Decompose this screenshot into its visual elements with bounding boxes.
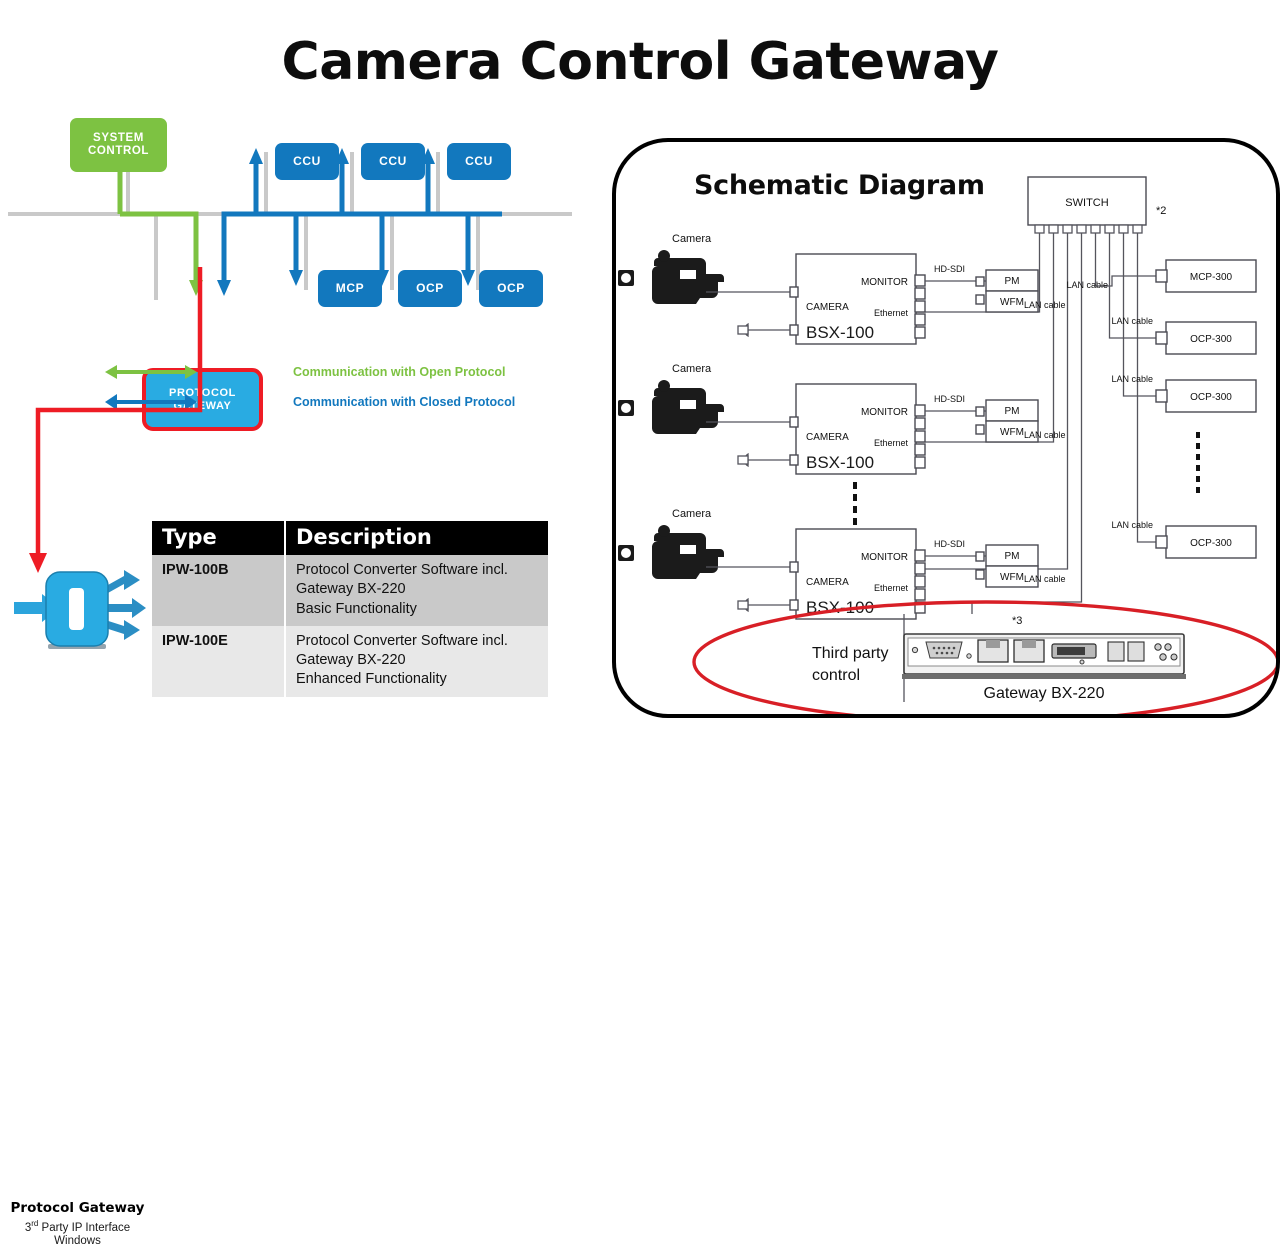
legend-row-closed: Communication with Closed Protocol: [105, 389, 515, 415]
ocp-300-3-lan-label: LAN cable: [1111, 520, 1153, 530]
ccu-2-label: CCU: [379, 155, 407, 169]
table-header-type: Type: [152, 521, 285, 555]
legend-label-closed: Communication with Closed Protocol: [293, 395, 515, 409]
schematic-panel: Schematic Diagram SWITCH *2: [612, 138, 1280, 718]
gateway-note: *3: [1012, 615, 1022, 627]
legend-arrow-open-icon: [105, 362, 197, 382]
protocol-gateway-icon[interactable]: [4, 558, 154, 658]
table-header-row: Type Description: [152, 521, 548, 555]
sdi-3-label: HD-SDI: [934, 539, 965, 549]
row-1-desc-line2: Gateway BX-220: [296, 651, 538, 670]
ocp-300-2-lan-label: LAN cable: [1111, 374, 1153, 384]
node-ccu-3[interactable]: CCU: [447, 143, 511, 180]
legend-row-open: Communication with Open Protocol: [105, 359, 506, 385]
protocol-gateway-icon-os: Windows: [0, 1235, 155, 1247]
bsx-1-port-ethernet: Ethernet: [874, 308, 909, 318]
ccu-1-label: CCU: [293, 155, 321, 169]
bsx-1-port-camera: CAMERA: [806, 302, 849, 313]
ocp-300-1-lan-label: LAN cable: [1111, 316, 1153, 326]
bsx-3-port-ethernet: Ethernet: [874, 583, 909, 593]
mcp-1-label: MCP: [336, 282, 364, 296]
gateway-bx220-group: Third party control *3: [812, 614, 1186, 702]
switch-note: *2: [1156, 205, 1166, 217]
row-0-desc-line3: Basic Functionality: [296, 600, 538, 619]
mcp-300-lan-label: LAN cable: [1066, 280, 1108, 290]
protocol-gateway-icon-block: Protocol Gateway 3rd Party IP Interface …: [0, 550, 155, 720]
control-panel-ocp-300-3: OCP-300 LAN cable: [1111, 520, 1256, 558]
node-ocp-1[interactable]: OCP: [398, 270, 462, 307]
legend: Communication with Open Protocol Communi…: [105, 355, 535, 415]
lan-3-label: LAN cable: [1024, 574, 1066, 584]
bsx-3-port-camera: CAMERA: [806, 577, 849, 588]
switch-label: SWITCH: [1065, 197, 1108, 209]
product-table: Type Description IPW-100B Protocol Conve…: [152, 521, 548, 697]
table-row[interactable]: IPW-100B Protocol Converter Software inc…: [152, 555, 548, 626]
row-1-description: Protocol Converter Software incl. Gatewa…: [285, 626, 548, 697]
ocp-1-label: OCP: [416, 282, 444, 296]
row-1-desc-line1: Protocol Converter Software incl.: [296, 632, 538, 651]
system-control-line2: CONTROL: [88, 145, 149, 158]
node-ccu-2[interactable]: CCU: [361, 143, 425, 180]
system-control-line1: SYSTEM: [93, 132, 144, 145]
ocp-2-label: OCP: [497, 282, 525, 296]
page-title: Camera Control Gateway: [0, 32, 1280, 92]
row-0-desc-line2: Gateway BX-220: [296, 580, 538, 599]
sdi-1-label: HD-SDI: [934, 264, 965, 274]
table-header-description: Description: [285, 521, 548, 555]
camera-row-2: Camera BSX-100 CAMERA MONITOR Ethernet: [618, 363, 1066, 474]
switch-block: SWITCH *2: [1028, 177, 1166, 233]
bsx-2-unit: BSX-100: [806, 453, 874, 472]
bsx-2-port-monitor: MONITOR: [861, 407, 908, 418]
wfm-3-label: WFM: [1000, 572, 1024, 583]
pm-3-label: PM: [1005, 551, 1020, 562]
legend-label-open: Communication with Open Protocol: [293, 365, 506, 379]
schematic-drawing: SWITCH *2: [616, 142, 1276, 714]
sub-sup: rd: [31, 1219, 38, 1228]
camera-3-label: Camera: [672, 508, 712, 520]
camera-2-label: Camera: [672, 363, 712, 375]
pm-2-label: PM: [1005, 406, 1020, 417]
node-ocp-2[interactable]: OCP: [479, 270, 543, 307]
gateway-bx220-label: Gateway BX-220: [984, 685, 1105, 702]
bsx-1-unit: BSX-100: [806, 323, 874, 342]
node-mcp-1[interactable]: MCP: [318, 270, 382, 307]
gateway-device-image: [902, 634, 1186, 679]
bsx-1-port-monitor: MONITOR: [861, 277, 908, 288]
bsx-2-port-ethernet: Ethernet: [874, 438, 909, 448]
wfm-1-label: WFM: [1000, 297, 1024, 308]
protocol-gateway-icon-subtitle: 3rd Party IP Interface: [0, 1219, 155, 1234]
ocp-300-2-label: OCP-300: [1190, 392, 1232, 403]
legend-arrow-closed-icon: [105, 392, 197, 412]
panels-ellipsis: [1196, 432, 1200, 493]
wfm-2-label: WFM: [1000, 427, 1024, 438]
ocp-300-3-label: OCP-300: [1190, 538, 1232, 549]
protocol-gateway-icon-title: Protocol Gateway: [0, 1200, 155, 1216]
sub-rest: Party IP Interface: [38, 1222, 130, 1234]
node-ccu-1[interactable]: CCU: [275, 143, 339, 180]
third-party-line2: control: [812, 667, 860, 684]
third-party-line1: Third party: [812, 645, 888, 662]
table-row[interactable]: IPW-100E Protocol Converter Software inc…: [152, 626, 548, 697]
row-0-desc-line1: Protocol Converter Software incl.: [296, 561, 538, 580]
ccu-3-label: CCU: [465, 155, 493, 169]
pm-1-label: PM: [1005, 276, 1020, 287]
control-panel-ocp-300-2: OCP-300 LAN cable: [1111, 374, 1256, 412]
sdi-2-label: HD-SDI: [934, 394, 965, 404]
ocp-300-1-label: OCP-300: [1190, 334, 1232, 345]
arrow-down-gateway-green: [189, 280, 203, 296]
row-0-type: IPW-100B: [152, 555, 285, 626]
row-0-description: Protocol Converter Software incl. Gatewa…: [285, 555, 548, 626]
node-system-control[interactable]: SYSTEM CONTROL: [70, 118, 167, 172]
camera-1-label: Camera: [672, 233, 712, 245]
row-1-type: IPW-100E: [152, 626, 285, 697]
bsx-3-port-monitor: MONITOR: [861, 552, 908, 563]
control-panel-ocp-300-1: OCP-300 LAN cable: [1111, 316, 1256, 354]
row-1-desc-line3: Enhanced Functionality: [296, 670, 538, 689]
lan-2-label: LAN cable: [1024, 430, 1066, 440]
mcp-300-label: MCP-300: [1190, 272, 1233, 283]
slide-root: Camera Control Gateway: [0, 0, 1280, 720]
camera-row-1: Camera BSX-100 CAMERA MONITOR Ethernet: [618, 233, 1066, 344]
bsx-2-port-camera: CAMERA: [806, 432, 849, 443]
lan-1-label: LAN cable: [1024, 300, 1066, 310]
